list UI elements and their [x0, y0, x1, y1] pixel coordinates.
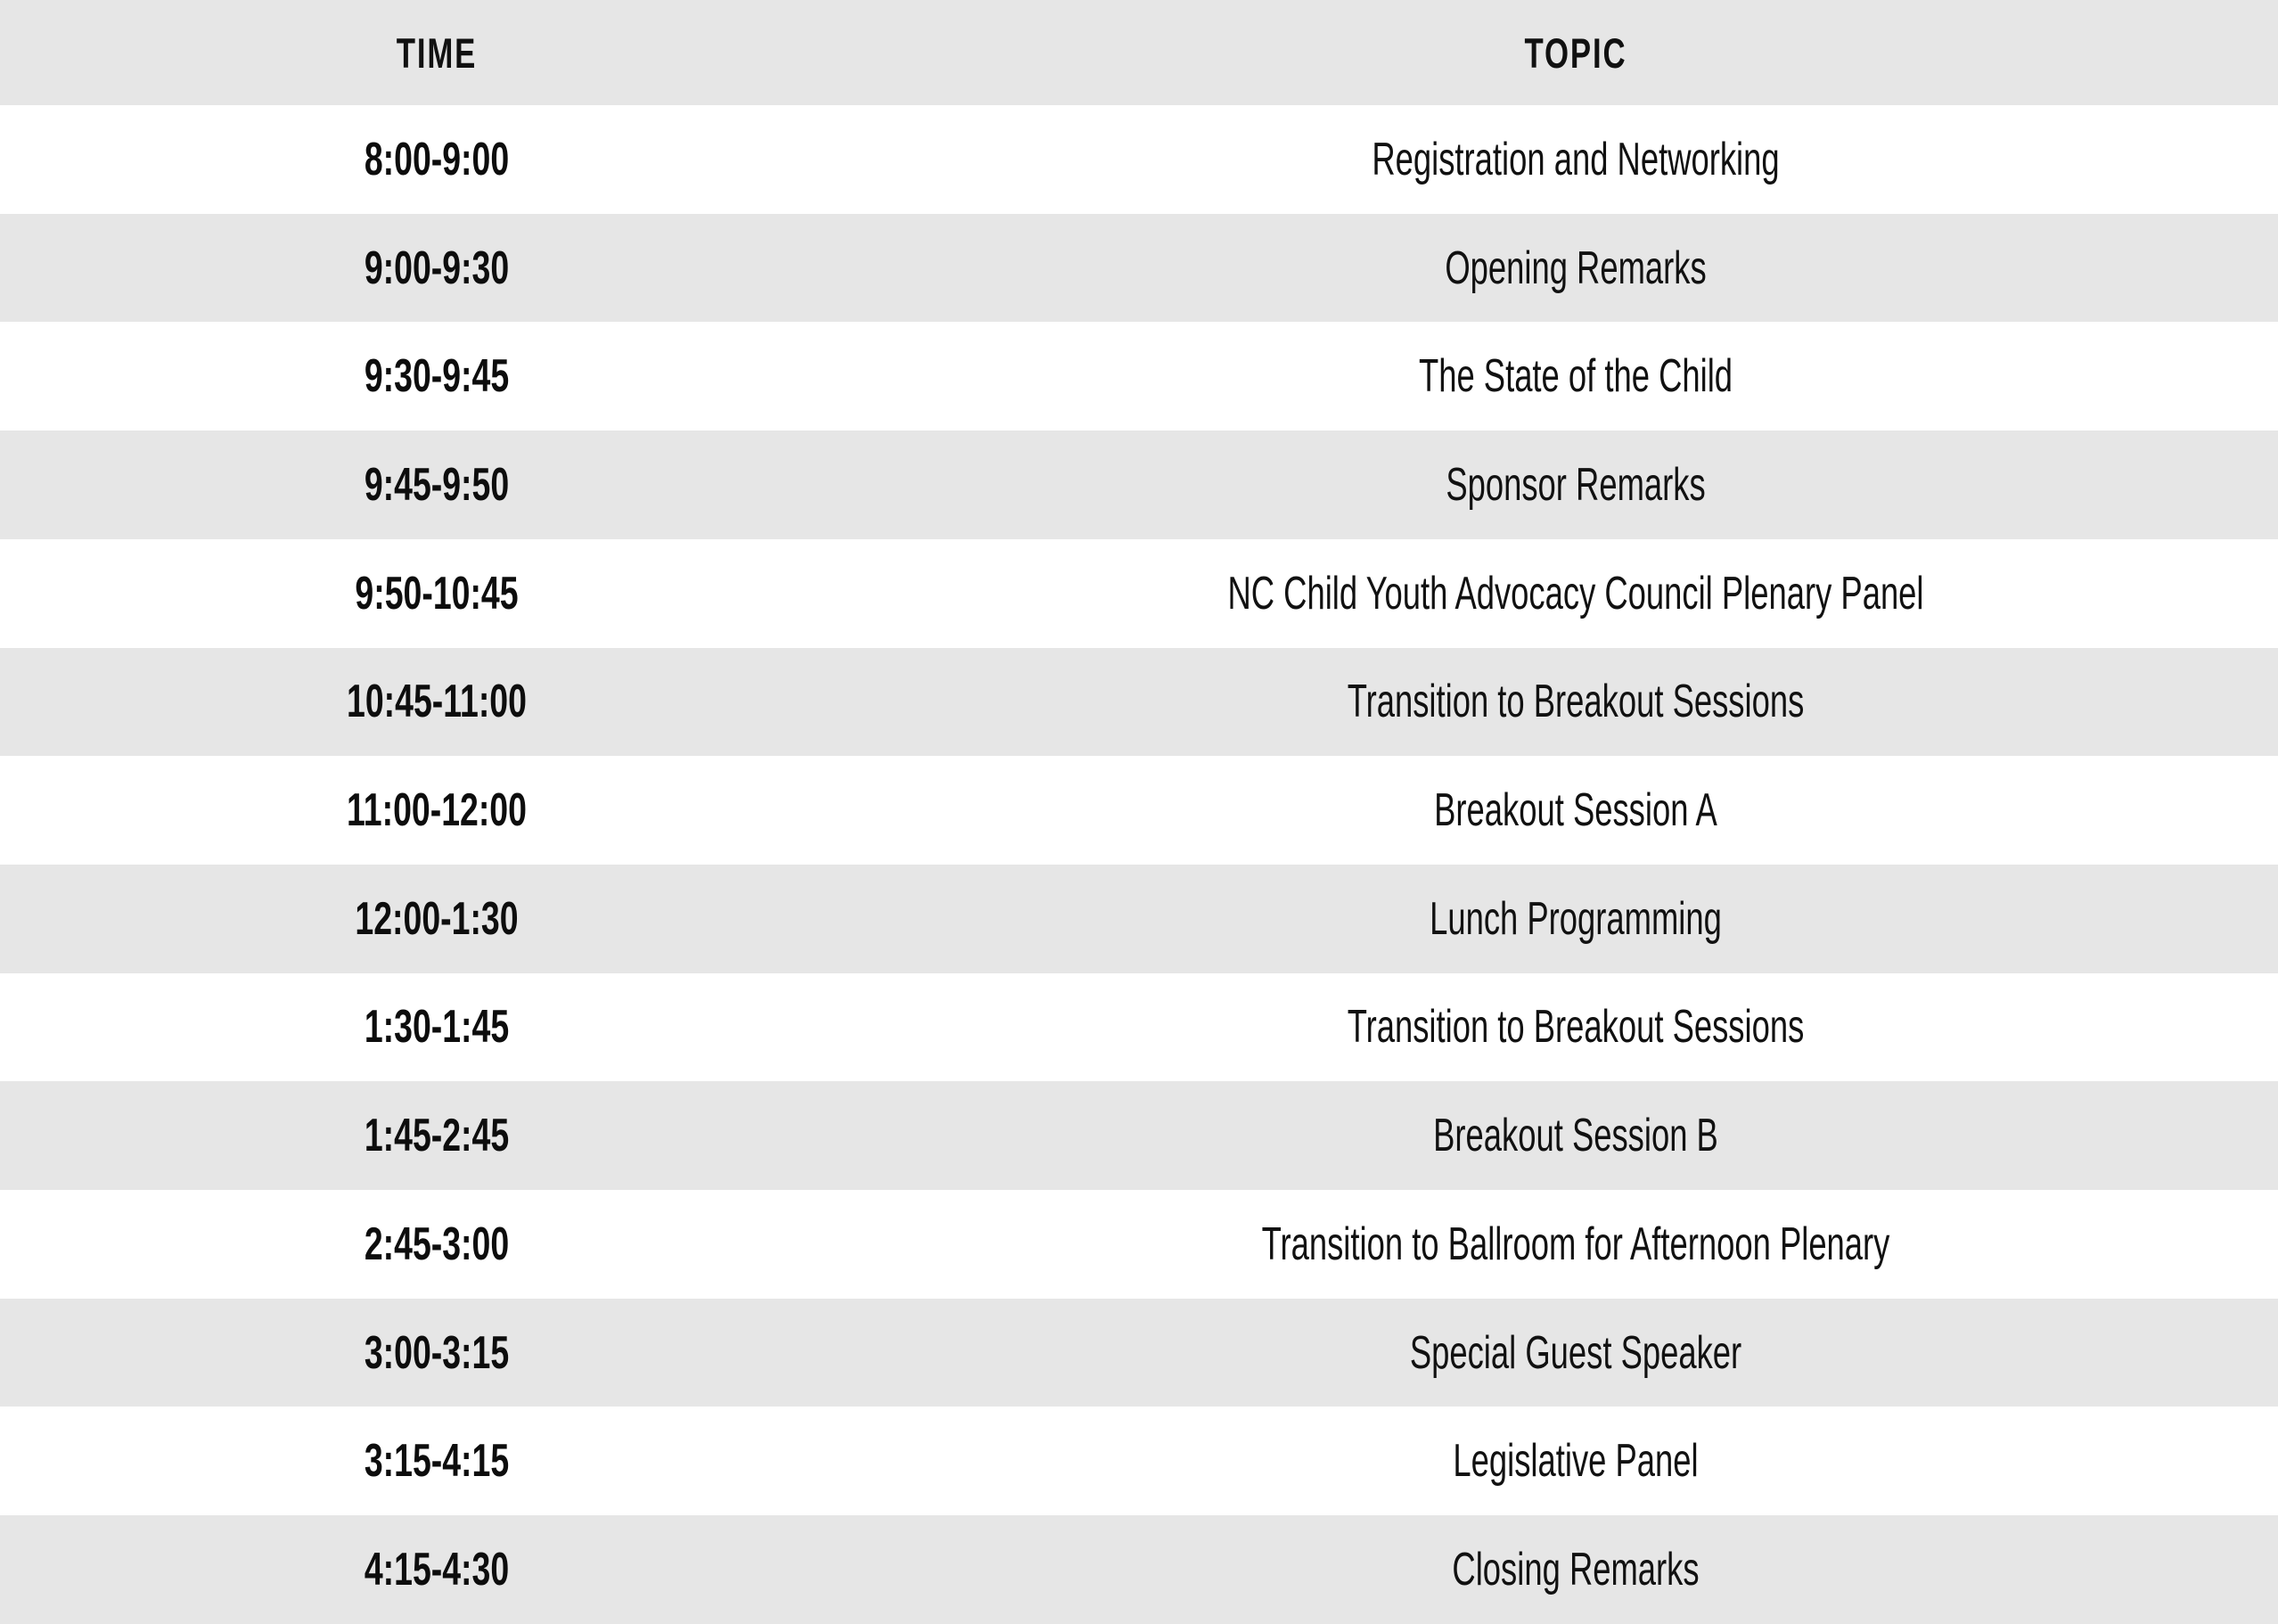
- topic-value: NC Child Youth Advocacy Council Plenary …: [1084, 570, 2067, 617]
- cell-topic: Transition to Breakout Sessions: [873, 648, 2278, 757]
- time-value: 2:45-3:00: [122, 1221, 751, 1267]
- topic-value: The State of the Child: [1084, 353, 2067, 399]
- table-row: 9:00-9:30 Opening Remarks: [0, 214, 2278, 323]
- cell-time: 9:30-9:45: [0, 322, 873, 431]
- table-header: TIME TOPIC: [0, 0, 2278, 105]
- cell-time: 3:00-3:15: [0, 1299, 873, 1407]
- topic-value: Legislative Panel: [1084, 1438, 2067, 1484]
- topic-value: Transition to Breakout Sessions: [1084, 678, 2067, 725]
- cell-topic: Legislative Panel: [873, 1407, 2278, 1515]
- cell-topic: Special Guest Speaker: [873, 1299, 2278, 1407]
- topic-value: Lunch Programming: [1084, 896, 2067, 942]
- time-value: 11:00-12:00: [122, 787, 751, 833]
- time-value: 9:30-9:45: [122, 353, 751, 399]
- cell-time: 4:15-4:30: [0, 1515, 873, 1624]
- table-row: 3:15-4:15 Legislative Panel: [0, 1407, 2278, 1515]
- table-row: 12:00-1:30 Lunch Programming: [0, 865, 2278, 973]
- table-row: 2:45-3:00 Transition to Ballroom for Aft…: [0, 1190, 2278, 1299]
- table-row: 9:45-9:50 Sponsor Remarks: [0, 431, 2278, 539]
- topic-value: Breakout Session B: [1084, 1112, 2067, 1159]
- cell-topic: Transition to Breakout Sessions: [873, 973, 2278, 1082]
- column-header-topic: TOPIC: [873, 0, 2278, 105]
- time-value: 1:30-1:45: [122, 1004, 751, 1050]
- table-body: 8:00-9:00 Registration and Networking 9:…: [0, 105, 2278, 1624]
- table-row: 4:15-4:30 Closing Remarks: [0, 1515, 2278, 1624]
- cell-topic: Breakout Session A: [873, 756, 2278, 865]
- cell-time: 2:45-3:00: [0, 1190, 873, 1299]
- table-header-row: TIME TOPIC: [0, 0, 2278, 105]
- cell-time: 9:45-9:50: [0, 431, 873, 539]
- cell-time: 10:45-11:00: [0, 648, 873, 757]
- time-value: 8:00-9:00: [122, 136, 751, 183]
- topic-value: Transition to Ballroom for Afternoon Ple…: [1084, 1221, 2067, 1267]
- cell-topic: Registration and Networking: [873, 105, 2278, 214]
- cell-time: 9:50-10:45: [0, 539, 873, 648]
- cell-topic: Opening Remarks: [873, 214, 2278, 323]
- cell-topic: Sponsor Remarks: [873, 431, 2278, 539]
- time-value: 9:50-10:45: [122, 570, 751, 617]
- time-value: 12:00-1:30: [122, 896, 751, 942]
- time-value: 4:15-4:30: [122, 1546, 751, 1593]
- time-value: 10:45-11:00: [122, 678, 751, 725]
- cell-time: 9:00-9:30: [0, 214, 873, 323]
- cell-time: 11:00-12:00: [0, 756, 873, 865]
- cell-topic: Breakout Session B: [873, 1081, 2278, 1190]
- agenda-schedule-table: TIME TOPIC 8:00-9:00 Registration and Ne…: [0, 0, 2278, 1624]
- topic-value: Closing Remarks: [1084, 1546, 2067, 1593]
- cell-time: 8:00-9:00: [0, 105, 873, 214]
- cell-topic: NC Child Youth Advocacy Council Plenary …: [873, 539, 2278, 648]
- time-value: 9:00-9:30: [122, 245, 751, 291]
- topic-value: Sponsor Remarks: [1084, 462, 2067, 508]
- table-row: 1:45-2:45 Breakout Session B: [0, 1081, 2278, 1190]
- table-row: 3:00-3:15 Special Guest Speaker: [0, 1299, 2278, 1407]
- column-header-time: TIME: [0, 0, 873, 105]
- table-row: 8:00-9:00 Registration and Networking: [0, 105, 2278, 214]
- topic-value: Transition to Breakout Sessions: [1084, 1004, 2067, 1050]
- table-row: 9:30-9:45 The State of the Child: [0, 322, 2278, 431]
- cell-topic: Lunch Programming: [873, 865, 2278, 973]
- cell-topic: The State of the Child: [873, 322, 2278, 431]
- topic-value: Registration and Networking: [1084, 136, 2067, 183]
- table-row: 11:00-12:00 Breakout Session A: [0, 756, 2278, 865]
- topic-value: Breakout Session A: [1084, 787, 2067, 833]
- column-header-time-label: TIME: [113, 29, 759, 78]
- time-value: 3:00-3:15: [122, 1330, 751, 1376]
- time-value: 3:15-4:15: [122, 1438, 751, 1484]
- table-row: 9:50-10:45 NC Child Youth Advocacy Counc…: [0, 539, 2278, 648]
- cell-topic: Closing Remarks: [873, 1515, 2278, 1624]
- topic-value: Special Guest Speaker: [1084, 1330, 2067, 1376]
- cell-time: 12:00-1:30: [0, 865, 873, 973]
- time-value: 1:45-2:45: [122, 1112, 751, 1159]
- table-row: 1:30-1:45 Transition to Breakout Session…: [0, 973, 2278, 1082]
- cell-time: 1:45-2:45: [0, 1081, 873, 1190]
- table-row: 10:45-11:00 Transition to Breakout Sessi…: [0, 648, 2278, 757]
- topic-value: Opening Remarks: [1084, 245, 2067, 291]
- cell-time: 3:15-4:15: [0, 1407, 873, 1515]
- cell-time: 1:30-1:45: [0, 973, 873, 1082]
- cell-topic: Transition to Ballroom for Afternoon Ple…: [873, 1190, 2278, 1299]
- column-header-topic-label: TOPIC: [1056, 29, 2095, 78]
- time-value: 9:45-9:50: [122, 462, 751, 508]
